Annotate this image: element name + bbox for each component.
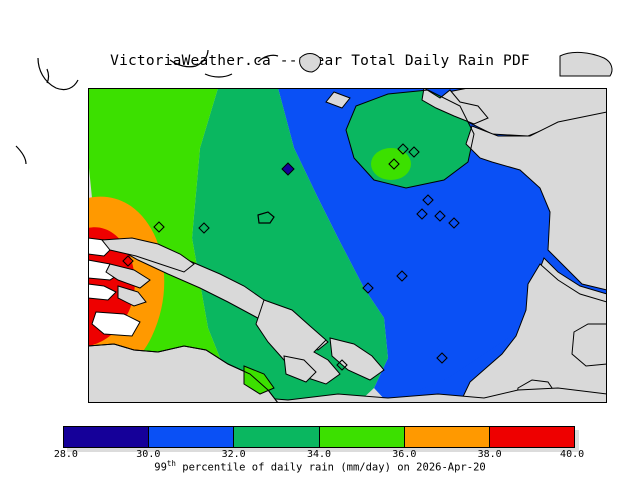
map-plot-area: [88, 88, 607, 403]
page-title: VictoriaWeather.ca -- Year Total Daily R…: [0, 53, 640, 69]
colorbar-band-sea-green: [234, 427, 319, 447]
colorbar: [63, 426, 575, 448]
rainfall-contour-map: [88, 88, 607, 403]
colorbar-band-orange: [405, 427, 490, 447]
weather-map-page: VictoriaWeather.ca -- Year Total Daily R…: [0, 0, 640, 480]
caption-prefix: 99: [154, 462, 167, 474]
green-island-blob: [371, 148, 411, 180]
colorbar-caption: 99th percentile of daily rain (mm/day) o…: [0, 459, 640, 474]
colorbar-band-red: [490, 427, 574, 447]
colorbar-band-navy: [64, 427, 149, 447]
caption-rest: percentile of daily rain (mm/day) on 202…: [176, 462, 486, 474]
caption-ordinal: th: [167, 459, 176, 468]
colorbar-band-bright-green: [320, 427, 405, 447]
colorbar-band-blue: [149, 427, 234, 447]
